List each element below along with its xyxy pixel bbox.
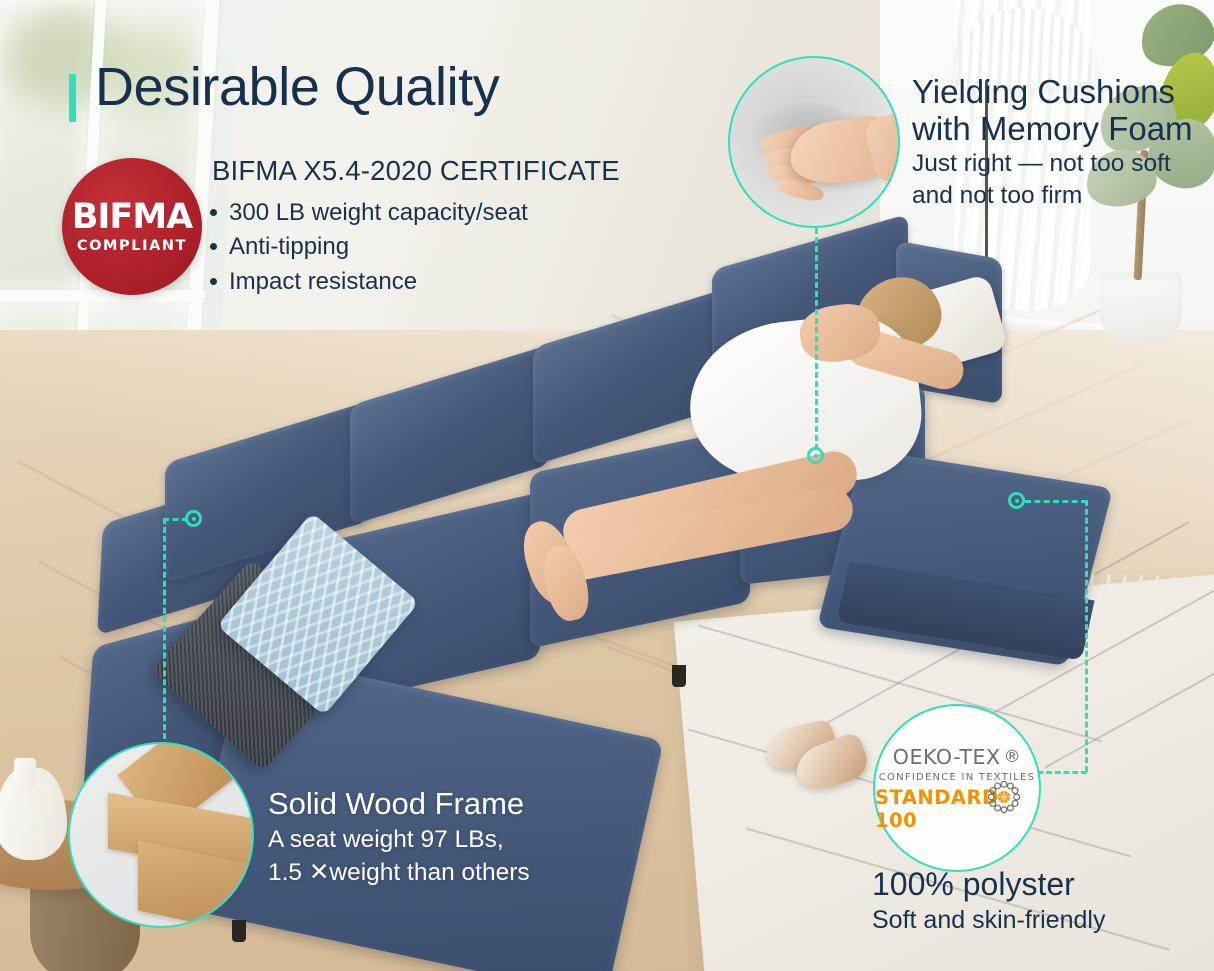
connector-fabric-h1: [1025, 500, 1087, 503]
oeko-tex-flower-icon: [987, 780, 1021, 814]
infographic-canvas: Desirable Quality BIFMA COMPLIANT BIFMA …: [0, 0, 1214, 971]
page-title: Desirable Quality: [95, 60, 499, 114]
cushions-feature-title: Yielding Cushions with Memory Foam: [912, 74, 1193, 148]
oeko-tex-name: OEKO-TEX: [893, 745, 1001, 769]
connector-frame-v: [163, 518, 166, 748]
cushions-sub-line-2: and not too firm: [912, 180, 1171, 212]
bifma-compliant-badge: BIFMA COMPLIANT: [62, 158, 202, 295]
memory-foam-photo-bubble: [728, 56, 900, 228]
vase-neck: [14, 758, 36, 788]
connector-cushions: [815, 228, 818, 450]
connector-fabric-v: [1085, 500, 1088, 772]
bifma-badge-subtitle: COMPLIANT: [77, 238, 187, 254]
certificate-bullet-list: 300 LB weight capacity/seat Anti-tipping…: [205, 196, 528, 299]
wood-frame-photo-bubble: [68, 742, 254, 928]
frame-sub-line-2: 1.5 ✕weight than others: [268, 857, 530, 890]
sofa-leg: [672, 665, 686, 687]
frame-feature-subtitle: A seat weight 97 LBs, 1.5 ✕weight than o…: [268, 824, 530, 889]
cushions-feature-subtitle: Just right — not too soft and not too fi…: [912, 148, 1171, 213]
cushions-title-line-1: Yielding Cushions: [912, 74, 1193, 111]
frame-feature-title: Solid Wood Frame: [268, 786, 524, 822]
fabric-feature-title: 100% polyster: [872, 866, 1075, 903]
list-item: Impact resistance: [205, 265, 528, 299]
oeko-tex-name-row: OEKO-TEX ®: [893, 745, 1022, 769]
oeko-tex-badge: OEKO-TEX ® CONFIDENCE IN TEXTILES STANDA…: [873, 704, 1041, 872]
plant-pot: [1100, 272, 1182, 344]
hotspot-frame: [185, 510, 202, 527]
bifma-badge-name: BIFMA: [72, 200, 193, 235]
cushions-title-line-2: with Memory Foam: [912, 111, 1193, 148]
fabric-feature-subtitle: Soft and skin-friendly: [872, 906, 1105, 935]
cushions-sub-line-1: Just right — not too soft: [912, 148, 1171, 180]
registered-trademark-icon: ®: [1004, 747, 1022, 767]
certificate-heading: BIFMA X5.4-2020 CERTIFICATE: [212, 155, 620, 187]
list-item: Anti-tipping: [205, 230, 528, 264]
list-item: 300 LB weight capacity/seat: [205, 196, 528, 230]
title-accent-bar: [69, 74, 76, 122]
frame-sub-line-1: A seat weight 97 LBs,: [268, 824, 530, 857]
hotspot-fabric: [1008, 492, 1025, 509]
hotspot-cushions: [807, 447, 824, 464]
